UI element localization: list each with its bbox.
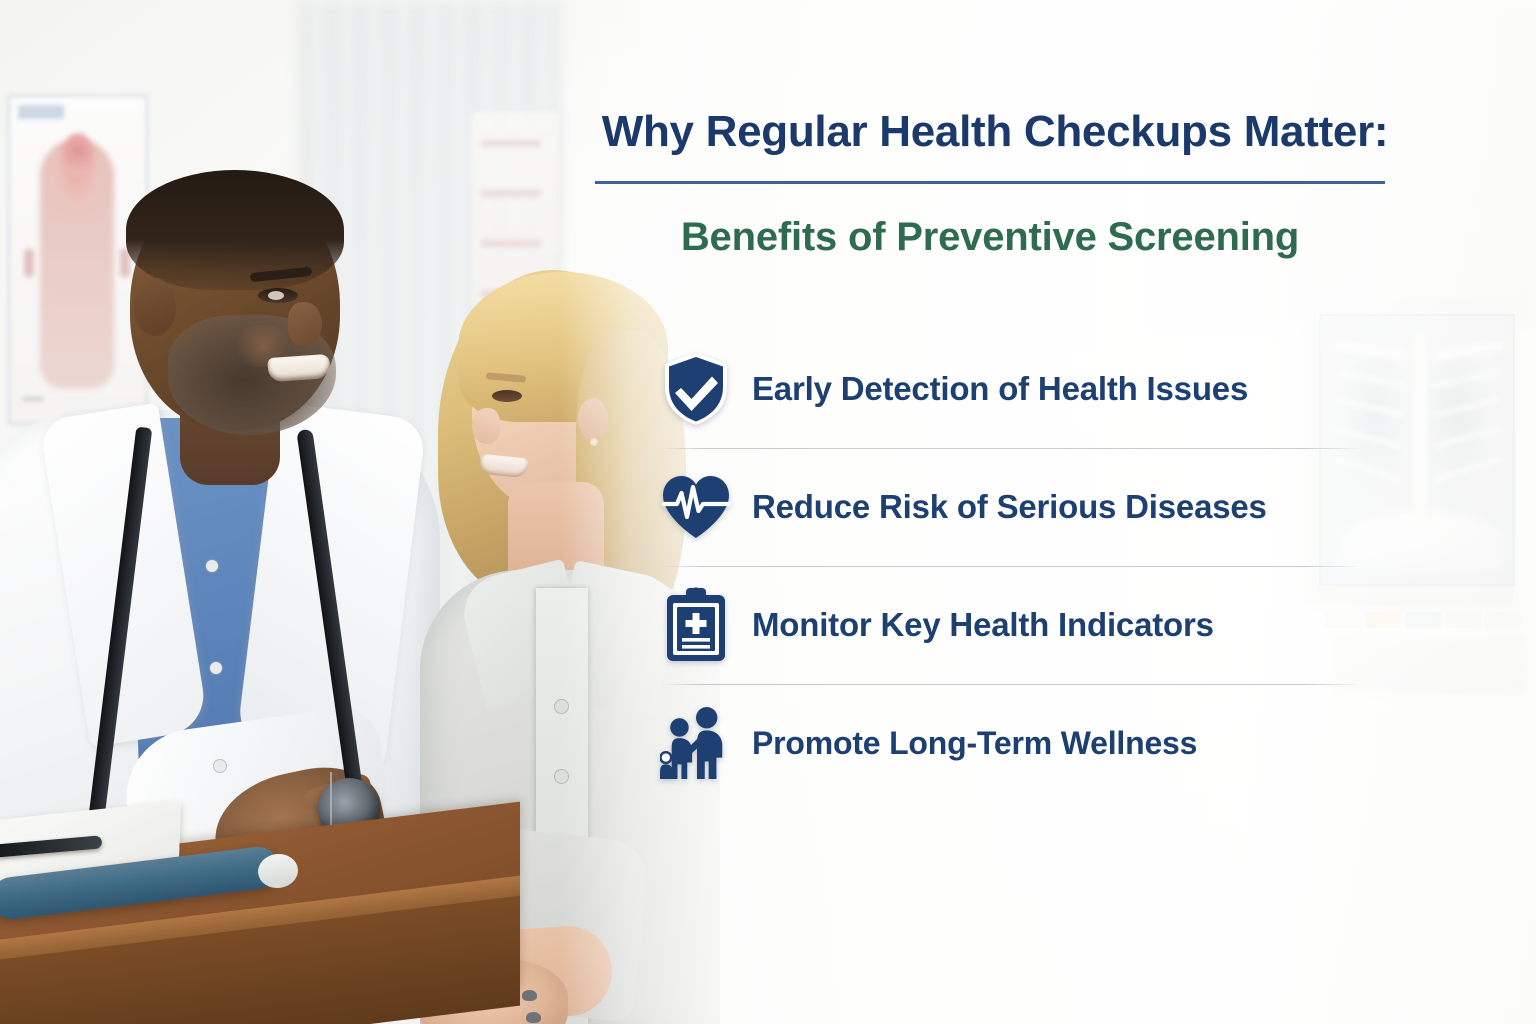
list-item-label: Promote Long-Term Wellness <box>752 725 1197 762</box>
clipboard-medical-icon <box>660 586 732 664</box>
list-item[interactable]: Promote Long-Term Wellness <box>660 684 1380 802</box>
list-item[interactable]: Early Detection of Health Issues <box>660 330 1380 448</box>
page-title: Why Regular Health Checkups Matter: <box>595 108 1395 156</box>
title-divider-rule <box>595 181 1385 184</box>
page-subtitle: Benefits of Preventive Screening <box>595 215 1385 260</box>
list-item-label: Reduce Risk of Serious Diseases <box>752 488 1267 526</box>
list-item[interactable]: Monitor Key Health Indicators <box>660 566 1380 684</box>
list-item-label: Monitor Key Health Indicators <box>752 606 1214 644</box>
list-item-label: Early Detection of Health Issues <box>752 370 1248 408</box>
infographic-canvas: Why Regular Health Checkups Matter: Bene… <box>0 0 1536 1024</box>
heart-pulse-icon <box>660 468 732 546</box>
family-people-icon <box>660 704 732 782</box>
benefits-list: Early Detection of Health Issues Reduce … <box>660 330 1380 802</box>
shield-check-icon <box>660 350 732 428</box>
list-item[interactable]: Reduce Risk of Serious Diseases <box>660 448 1380 566</box>
infographic-content: Why Regular Health Checkups Matter: Bene… <box>0 0 1536 1024</box>
